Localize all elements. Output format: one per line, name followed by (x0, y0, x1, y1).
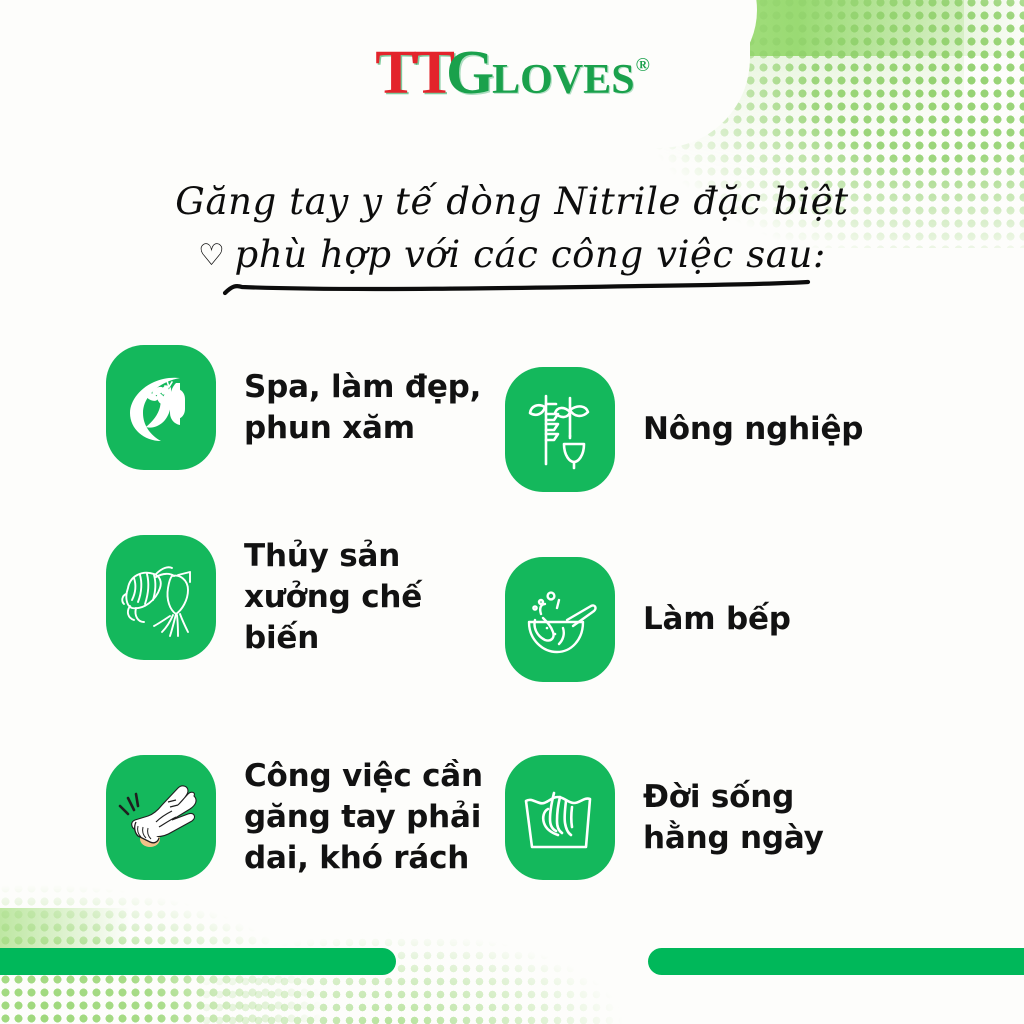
benefits-row-2: Thủy sản xưởng chế biến (0, 535, 1024, 682)
benefit-label-line: găng tay phải (244, 797, 483, 838)
benefit-label-line: dai, khó rách (244, 838, 483, 879)
headline: Găng tay y tế dòng Nitrile đặc biệt ♡phù… (0, 176, 1024, 281)
headline-underline (222, 276, 812, 300)
benefit-label-daily-life: Đời sống hằng ngày (643, 777, 824, 859)
cooking-icon-badge (505, 557, 615, 682)
benefit-label-durable-glove: Công việc cần găng tay phải dai, khó rác… (244, 756, 483, 879)
logo-text-g: G (446, 39, 492, 107)
daily-life-icon-badge (505, 755, 615, 880)
durable-glove-icon-badge (106, 755, 216, 880)
benefit-label-line: Spa, làm đẹp, (244, 367, 481, 408)
benefit-badge-wrap (106, 755, 216, 880)
benefit-label-line: Làm bếp (643, 599, 791, 640)
benefit-item-daily-life[interactable]: Đời sống hằng ngày (505, 755, 1024, 880)
benefits-grid: Spa, làm đẹp, phun xăm (0, 345, 1024, 880)
benefit-label-line: xưởng chế biến (244, 577, 505, 659)
headline-line-1: Găng tay y tế dòng Nitrile đặc biệt (0, 176, 1024, 229)
benefit-item-durable-glove[interactable]: Công việc cần găng tay phải dai, khó rác… (0, 755, 505, 880)
handwash-basin-icon (520, 783, 600, 853)
benefit-badge-wrap (505, 367, 615, 492)
spa-face-icon-badge (106, 345, 216, 470)
benefit-item-spa[interactable]: Spa, làm đẹp, phun xăm (0, 345, 505, 470)
registered-trademark-icon: ® (636, 55, 650, 76)
benefit-label-line: Thủy sản (244, 536, 505, 577)
badge-pointer (193, 386, 235, 428)
bottom-left-halftone-dots (0, 882, 416, 1024)
headline-line-2-wrap: ♡phù hợp với các công việc sau: (198, 229, 826, 282)
benefit-item-seafood[interactable]: Thủy sản xưởng chế biến (0, 535, 505, 660)
benefit-label-line: Công việc cần (244, 756, 483, 797)
benefits-row-3: Công việc cần găng tay phải dai, khó rác… (0, 725, 1024, 880)
seafood-shrimp-squid-icon (120, 558, 202, 638)
benefit-label-seafood: Thủy sản xưởng chế biến (244, 536, 505, 659)
badge-pointer (592, 408, 634, 450)
benefit-badge-wrap (106, 535, 216, 660)
benefit-label-line: Nông nghiệp (643, 409, 863, 450)
seafood-icon-badge (106, 535, 216, 660)
brand-logo: TTGLOVES® (0, 42, 1024, 104)
bottom-center-halftone-dots (200, 910, 630, 1024)
benefits-row-1: Spa, làm đẹp, phun xăm (0, 345, 1024, 492)
poster-canvas: TTGLOVES® Găng tay y tế dòng Nitrile đặc… (0, 0, 1024, 1024)
cooking-pan-icon (521, 582, 599, 658)
benefit-badge-wrap (505, 755, 615, 880)
benefit-item-cooking[interactable]: Làm bếp (505, 557, 1024, 682)
bottom-left-green-wash (0, 908, 130, 966)
benefit-badge-wrap (106, 345, 216, 470)
spa-face-icon (124, 369, 198, 447)
bottom-bar-right (648, 948, 1024, 975)
agriculture-icon-badge (505, 367, 615, 492)
benefit-label-cooking: Làm bếp (643, 599, 791, 640)
logo-text-loves: LOVES (492, 57, 634, 103)
heart-icon: ♡ (198, 235, 226, 278)
benefit-label-agriculture: Nông nghiệp (643, 409, 863, 450)
benefit-badge-wrap (505, 557, 615, 682)
headline-line-2: phù hợp với các công việc sau: (235, 233, 826, 276)
logo-text-tt: TT (375, 39, 452, 107)
benefit-label-spa: Spa, làm đẹp, phun xăm (244, 367, 481, 449)
benefit-label-line: Đời sống (643, 777, 824, 818)
benefit-label-line: hằng ngày (643, 818, 824, 859)
benefit-item-agriculture[interactable]: Nông nghiệp (505, 367, 1024, 492)
glove-durable-hand-icon (118, 780, 204, 856)
bottom-bar-left (0, 948, 396, 975)
agriculture-plant-shovel-icon (524, 390, 596, 470)
benefit-label-line: phun xăm (244, 408, 481, 449)
